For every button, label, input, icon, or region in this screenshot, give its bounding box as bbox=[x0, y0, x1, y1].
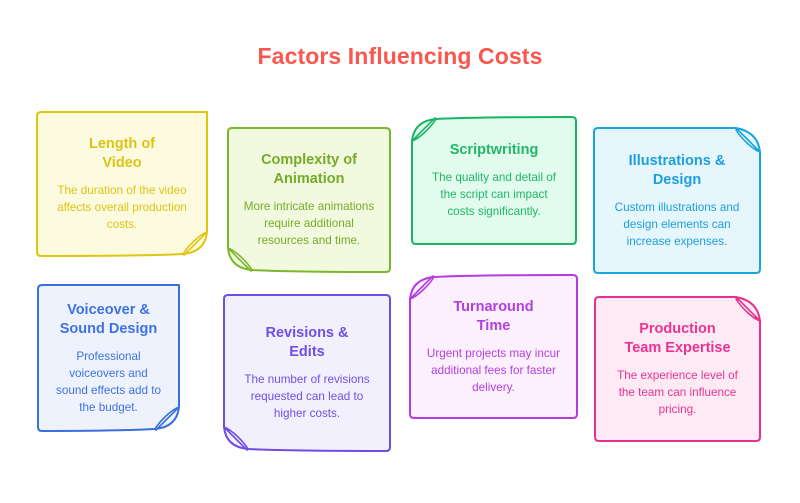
card-title: Turnaround Time bbox=[453, 298, 533, 336]
page-title: Factors Influencing Costs bbox=[0, 42, 800, 70]
factor-card-scriptwriting[interactable]: ScriptwritingThe quality and detail of t… bbox=[412, 117, 576, 244]
card-title: Scriptwriting bbox=[450, 141, 539, 160]
card-content: ScriptwritingThe quality and detail of t… bbox=[412, 117, 576, 244]
factor-card-revisions-and-edits[interactable]: Revisions & EditsThe number of revisions… bbox=[224, 295, 390, 451]
card-content: Production Team ExpertiseThe experience … bbox=[595, 297, 760, 441]
factor-card-illustrations-and-design[interactable]: Illustrations & DesignCustom illustratio… bbox=[594, 128, 760, 273]
card-description: Custom illustrations and design elements… bbox=[608, 199, 746, 250]
card-title: Voiceover & Sound Design bbox=[60, 301, 157, 339]
card-description: Urgent projects may incur additional fee… bbox=[424, 345, 563, 396]
card-title: Illustrations & Design bbox=[629, 152, 726, 190]
card-content: Revisions & EditsThe number of revisions… bbox=[224, 295, 390, 451]
infographic-canvas: Factors Influencing Costs Length of Vide… bbox=[0, 0, 800, 503]
card-content: Turnaround TimeUrgent projects may incur… bbox=[410, 275, 577, 418]
factor-card-voiceover-and-sound-design[interactable]: Voiceover & Sound DesignProfessional voi… bbox=[38, 285, 179, 431]
card-title: Length of Video bbox=[89, 135, 155, 173]
factor-card-length-of-video[interactable]: Length of VideoThe duration of the video… bbox=[37, 112, 207, 256]
card-content: Voiceover & Sound DesignProfessional voi… bbox=[38, 285, 179, 431]
card-description: The duration of the video affects overal… bbox=[51, 182, 193, 233]
card-content: Illustrations & DesignCustom illustratio… bbox=[594, 128, 760, 273]
factor-card-production-team-expertise[interactable]: Production Team ExpertiseThe experience … bbox=[595, 297, 760, 441]
card-description: The quality and detail of the script can… bbox=[426, 169, 562, 220]
card-description: Professional voiceovers and sound effect… bbox=[52, 348, 165, 416]
card-content: Complexity of AnimationMore intricate an… bbox=[228, 128, 390, 272]
card-description: The experience level of the team can inf… bbox=[609, 367, 746, 418]
factor-card-complexity-of-animation[interactable]: Complexity of AnimationMore intricate an… bbox=[228, 128, 390, 272]
card-description: The number of revisions requested can le… bbox=[238, 371, 376, 422]
factor-card-turnaround-time[interactable]: Turnaround TimeUrgent projects may incur… bbox=[410, 275, 577, 418]
card-content: Length of VideoThe duration of the video… bbox=[37, 112, 207, 256]
card-title: Production Team Expertise bbox=[624, 320, 730, 358]
card-title: Revisions & Edits bbox=[266, 324, 349, 362]
card-title: Complexity of Animation bbox=[261, 151, 357, 189]
card-description: More intricate animations require additi… bbox=[242, 198, 376, 249]
